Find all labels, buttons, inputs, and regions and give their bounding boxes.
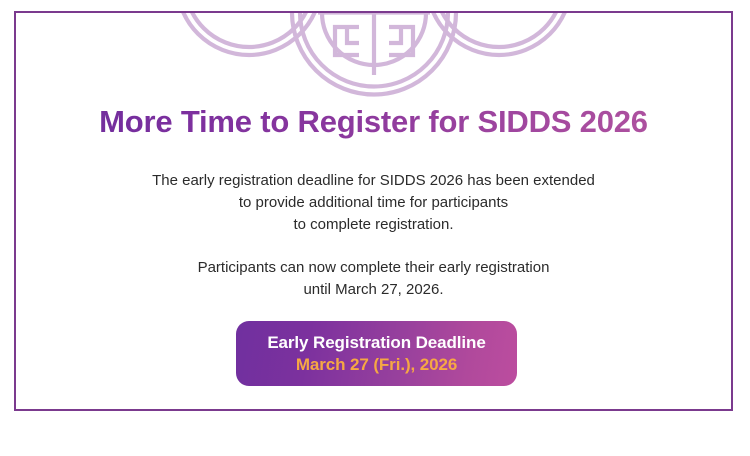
announcement-poster: More Time to Register for SIDDS 2026 The…: [0, 0, 750, 456]
early-registration-deadline-badge: Early Registration Deadline March 27 (Fr…: [236, 321, 517, 386]
announcement-paragraph-1: The early registration deadline for SIDD…: [16, 170, 731, 236]
badge-title: Early Registration Deadline: [267, 332, 485, 354]
page-title: More Time to Register for SIDDS 2026: [16, 104, 731, 140]
paragraph-2-line-1: Participants can now complete their earl…: [16, 257, 731, 279]
paragraph-1-line-2: to provide additional time for participa…: [16, 192, 731, 214]
paragraph-1-line-3: to complete registration.: [16, 214, 731, 236]
longevity-medallion-pattern-icon: [16, 13, 731, 109]
paragraph-1-line-1: The early registration deadline for SIDD…: [16, 170, 731, 192]
announcement-paragraph-2: Participants can now complete their earl…: [16, 257, 731, 301]
badge-date: March 27 (Fri.), 2026: [296, 354, 457, 376]
paragraph-2-line-2: until March 27, 2026.: [16, 279, 731, 301]
